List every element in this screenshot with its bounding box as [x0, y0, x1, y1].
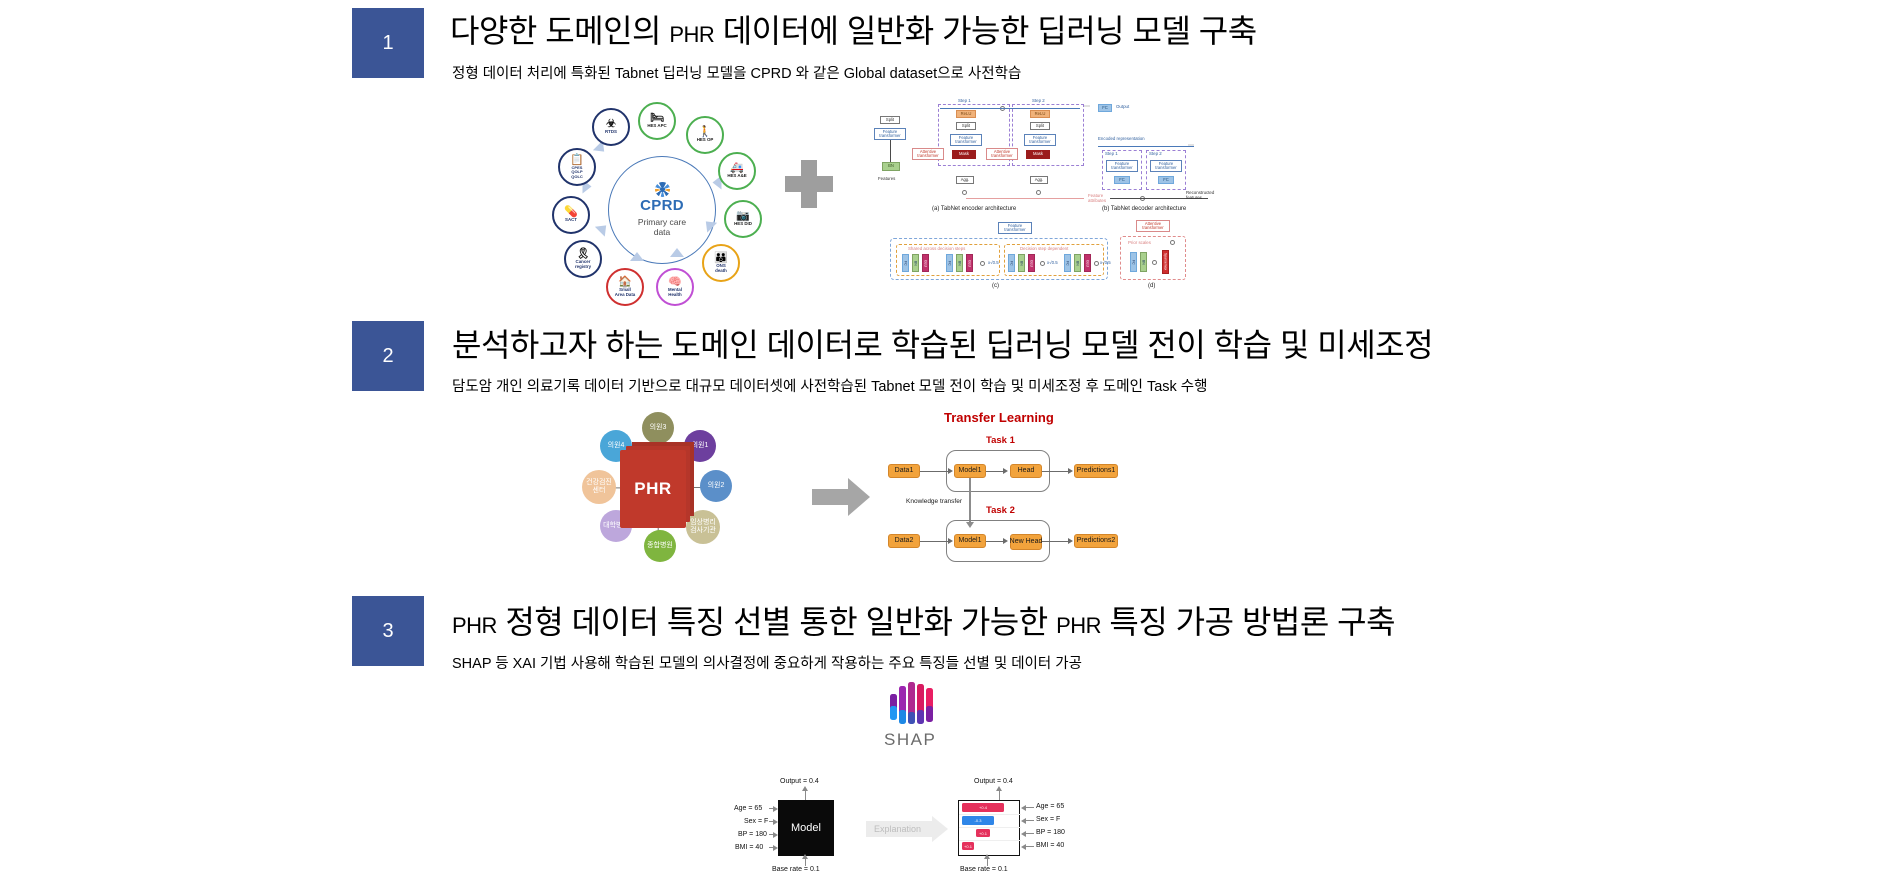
- tabnet-sparsemax-vblock: Sparsemax: [1162, 250, 1169, 274]
- tabnet-feature-transformer-block: Featuretransformer: [874, 128, 906, 140]
- tl-arrow: [1068, 468, 1073, 474]
- section-2-number-badge: 2: [352, 321, 424, 391]
- knowledge-transfer-line: [969, 478, 971, 524]
- tl-data2-box: Data2: [888, 534, 920, 548]
- tabnet-decoder-step1-label: Step 1: [1105, 151, 1118, 156]
- tabnet-fc-vblock: FC: [1064, 254, 1071, 272]
- ex-contrib-bar-bmi: +0.1: [962, 842, 974, 850]
- tabnet-feature-attributes-label: Featureattributes: [1088, 193, 1106, 203]
- tl-arrow: [1003, 538, 1008, 544]
- tabnet-ellipsis: ⋯: [1084, 103, 1091, 110]
- tabnet-at-mult-node: [1152, 260, 1157, 265]
- shap-logo-icon: [888, 682, 946, 724]
- ex-input-arrow: [773, 806, 778, 812]
- phr-node-uiwon1: 의원1: [684, 430, 716, 462]
- explanation-label: Explanation: [874, 824, 921, 834]
- cprd-node-small-area-data: 🏠 SmallArea Data: [606, 268, 644, 306]
- tabnet-bn-vblock: BN: [1018, 254, 1025, 272]
- tabnet-decoder-feature-transformer: Featuretransformer: [1106, 160, 1138, 172]
- ex-input-bmi: BMI = 40: [735, 844, 763, 851]
- tabnet-shared-label: Shared across decision steps: [908, 246, 965, 251]
- section-3-headline-part-2: 정형 데이터 특징 선별 통한 일반화 가능한: [497, 604, 1056, 640]
- tabnet-at-bn-vblock: BN: [1140, 252, 1147, 272]
- section-3-headline-phr-1: PHR: [452, 613, 497, 638]
- tabnet-bn-block: BN: [882, 162, 900, 171]
- cprd-node-label: CPESQOLPQOLC: [571, 166, 583, 179]
- tabnet-prior-scales-label: Prior scales: [1128, 240, 1151, 245]
- tabnet-feature-transformer-block: Featuretransformer: [1024, 134, 1056, 146]
- transfer-learning-title: Transfer Learning: [944, 410, 1054, 425]
- tl-new-head-line2: Head: [1026, 538, 1043, 546]
- tl-connector: [986, 471, 1004, 472]
- tl-predictions1-box: Predictions1: [1074, 464, 1118, 478]
- tabnet-agg-block: Agg.: [1030, 176, 1048, 184]
- tabnet-scale-label: x√0.5: [988, 260, 999, 265]
- tabnet-glu-vblock: GLU: [966, 254, 973, 272]
- section-2-headline: 분석하고자 하는 도메인 데이터로 학습된 딥러닝 모델 전이 학습 및 미세조…: [452, 320, 1433, 366]
- plus-symbol: [785, 160, 833, 208]
- shap-logo-figure: SHAP: [878, 682, 968, 752]
- ex-contrib-bar-age: +0.4: [962, 803, 1004, 812]
- ex-input-bp: BP = 180: [738, 831, 767, 838]
- arrow-shaft: [812, 489, 850, 505]
- phr-node-clinical-lab: 임상병리검사기관: [686, 510, 720, 544]
- ex-right-arrow: [1021, 805, 1026, 811]
- tl-arrow: [948, 468, 953, 474]
- section-1-subline: 정형 데이터 처리에 특화된 Tabnet 딥러닝 모델을 CPRD 와 같은 …: [452, 62, 1021, 83]
- tabnet-glu-vblock: GLU: [1028, 254, 1035, 272]
- tl-connector: [920, 541, 950, 542]
- ex-grid-line: [959, 814, 1021, 815]
- ex-input-age: Age = 65: [734, 805, 762, 812]
- cprd-center: CPRD Primary care data: [608, 156, 716, 264]
- tabnet-output-label: Output: [1116, 104, 1129, 109]
- explanation-arrow-head: [932, 816, 948, 842]
- tabnet-ft-sum-node: [1040, 261, 1045, 266]
- cprd-node-label: MentalHealth: [668, 288, 682, 298]
- phr-center-document: PHR: [620, 450, 686, 528]
- cprd-node-hes-apc: 🛏 HES APC: [638, 102, 676, 140]
- tabnet-decoder-bus: [1098, 146, 1194, 147]
- cprd-center-subtitle: Primary care data: [638, 218, 686, 238]
- phr-node-uiwon2: 의원2: [700, 470, 732, 502]
- cprd-node-label: SACT: [565, 218, 577, 223]
- cprd-logo-icon: [655, 182, 670, 197]
- ex-right-label-age: Age = 65: [1036, 803, 1064, 810]
- cprd-figure: CPRD Primary care data 🛏 HES APC: [552, 102, 772, 318]
- tabnet-decoder-fc-block: FC: [1114, 176, 1130, 184]
- tabnet-decoder-feature-transformer: Featuretransformer: [1150, 160, 1182, 172]
- shap-explanation-figure: Output = 0.4 Model Age = 65 Sex = F BP =…: [736, 778, 1076, 878]
- arrow-head: [848, 478, 870, 516]
- cprd-node-label: RTDS: [605, 130, 617, 135]
- cprd-node-label: ONSdeath: [715, 264, 727, 274]
- tl-new-head-line1: New: [1010, 538, 1024, 546]
- tabnet-ft-detail-title: Featuretransformer: [998, 222, 1032, 234]
- shap-bar: [908, 682, 915, 716]
- tl-new-head-box: New Head: [1010, 534, 1042, 550]
- tabnet-attentive-transformer-block: Attentivetransformer: [986, 148, 1018, 160]
- tabnet-mask-block: Mask: [1026, 150, 1050, 159]
- cprd-node-sact: 💊 SACT: [552, 196, 590, 234]
- cprd-node-cpes: 📋 CPESQOLPQOLC: [558, 148, 596, 186]
- tl-arrow: [948, 538, 953, 544]
- shap-bar: [917, 710, 924, 724]
- tabnet-fc-vblock: FC: [902, 254, 909, 272]
- section-1-headline: 다양한 도메인의 PHR 데이터에 일반화 가능한 딥러닝 모델 구축: [450, 6, 1257, 52]
- tabnet-at-fc-vblock: FC: [1130, 252, 1137, 272]
- section-1-headline-phr: PHR: [669, 22, 714, 47]
- ex-right-label-bp: BP = 180: [1036, 829, 1065, 836]
- cprd-node-label: HES DID: [734, 222, 752, 227]
- tl-data1-box: Data1: [888, 464, 920, 478]
- cprd-node-ons-death: 👪 ONSdeath: [702, 244, 740, 282]
- tabnet-reconstructed-label: Reconstructedfeatures: [1186, 190, 1214, 200]
- tl-arrow: [1068, 538, 1073, 544]
- ex-output-arrow: [802, 786, 808, 791]
- tl-arrow: [1003, 468, 1008, 474]
- ex-baserate-arrow: [802, 854, 808, 859]
- phr-node-uiwon3: 의원3: [642, 412, 674, 444]
- tabnet-bn-vblock: BN: [1074, 254, 1081, 272]
- tabnet-ft-sum-node: [1094, 261, 1099, 266]
- tabnet-scale-label: x√0.5: [1047, 260, 1058, 265]
- tl-connector: [920, 471, 950, 472]
- task2-label: Task 2: [986, 505, 1015, 516]
- tabnet-figure: Step 1 Step 2 BN Features Split Featuret…: [880, 98, 1220, 296]
- phr-node-health-checkup-center: 건강검진센터: [582, 470, 616, 504]
- shap-bar: [899, 710, 906, 724]
- tabnet-encoded-representation-label: Encoded representation: [1098, 136, 1145, 141]
- cprd-brand-label: CPRD: [640, 197, 684, 214]
- tabnet-feature-transformer-block: Featuretransformer: [950, 134, 982, 146]
- ex-base-rate-right: Base rate = 0.1: [960, 866, 1008, 873]
- ex-input-arrow: [773, 832, 778, 838]
- tabnet-agg-block: Agg.: [956, 176, 974, 184]
- tabnet-scale-label: x√0.5: [1100, 260, 1111, 265]
- tl-model1-box: Model1: [954, 464, 986, 478]
- tabnet-glu-vblock: GLU: [922, 254, 929, 272]
- cprd-node-cancer-registry: 🎗 Cancerregistry: [564, 240, 602, 278]
- section-3-headline-part-4: 특징 가공 방법론 구축: [1101, 604, 1395, 640]
- ex-right-label-sex: Sex = F: [1036, 816, 1060, 823]
- tabnet-relu-block: ReLU: [956, 110, 976, 118]
- ex-base-rate-left: Base rate = 0.1: [772, 866, 820, 873]
- tabnet-at-detail-title: Attentivetransformer: [1136, 220, 1170, 232]
- process-arrow: [812, 478, 870, 516]
- section-2-subline: 담도암 개인 의료기록 데이터 기반으로 대규모 데이터셋에 사전학습된 Tab…: [452, 375, 1207, 396]
- tl-connector: [1042, 471, 1068, 472]
- tabnet-caption-c: (c): [992, 283, 999, 289]
- tl-connector: [1042, 541, 1068, 542]
- ex-output-label-left: Output = 0.4: [780, 778, 819, 785]
- tabnet-caption-d: (d): [1148, 283, 1155, 289]
- ex-output-label-right: Output = 0.4: [974, 778, 1013, 785]
- tl-connector: [986, 541, 1004, 542]
- tabnet-step2-label: Step 2: [1032, 98, 1045, 103]
- ex-right-arrow: [1021, 844, 1026, 850]
- tabnet-sum-node: [962, 190, 967, 195]
- ex-contrib-bar-sex: -0.3: [962, 816, 994, 825]
- tl-predictions2-box: Predictions2: [1074, 534, 1118, 548]
- tabnet-ft-sum-node: [980, 261, 985, 266]
- tabnet-fc-vblock: FC: [1008, 254, 1015, 272]
- tabnet-at-mult-node: [1170, 240, 1175, 245]
- tabnet-split-block: Split: [1030, 122, 1050, 130]
- tabnet-relu-block: ReLU: [1030, 110, 1050, 118]
- tabnet-fc-block: FC: [1098, 104, 1112, 112]
- tabnet-caption-b: (b) TabNet decoder architecture: [1102, 206, 1186, 212]
- task1-label: Task 1: [986, 435, 1015, 446]
- tabnet-decoder-fc-block: FC: [1158, 176, 1174, 184]
- section-1-headline-part-3: 데이터에 일반화 가능한 딥러닝 모델 구축: [714, 13, 1256, 49]
- cprd-node-hes-did: 📷 HES DID: [724, 200, 762, 238]
- cprd-arrow-chip: [630, 252, 644, 261]
- slide-canvas: 1 다양한 도메인의 PHR 데이터에 일반화 가능한 딥러닝 모델 구축 정형…: [0, 0, 1900, 881]
- ex-input-sex: Sex = F: [744, 818, 768, 825]
- cprd-node-label: HES A&E: [727, 174, 746, 179]
- section-3-subline: SHAP 등 XAI 기법 사용해 학습된 모델의 의사결정에 중요하게 작용하…: [452, 652, 1082, 673]
- ex-grid-line: [959, 827, 1021, 828]
- shap-wordmark: SHAP: [884, 730, 936, 750]
- tabnet-sum-node: [1036, 190, 1041, 195]
- tabnet-decoder-step2-label: Step 2: [1149, 151, 1162, 156]
- tabnet-caption-a: (a) TabNet encoder architecture: [932, 206, 1016, 212]
- ex-input-arrow: [773, 845, 778, 851]
- section-1-number-badge: 1: [352, 8, 424, 78]
- tabnet-decoder-ellipsis: ⋯: [1188, 142, 1195, 149]
- tabnet-split-block: Split: [956, 122, 976, 130]
- ex-input-arrow: [773, 819, 778, 825]
- shap-bar: [926, 706, 933, 722]
- section-1-headline-part-1: 다양한 도메인의: [450, 13, 669, 49]
- tabnet-step1-label: Step 1: [958, 98, 971, 103]
- shap-bar: [908, 712, 915, 724]
- transfer-learning-figure: Transfer Learning Task 1 Data1 Model1 He…: [888, 410, 1188, 570]
- tl-head-box: Head: [1010, 464, 1042, 478]
- ex-model-box: Model: [778, 800, 834, 856]
- cprd-node-hes-ae: 🚑 HES A&E: [718, 152, 756, 190]
- ex-output-arrow: [996, 786, 1002, 791]
- ex-right-label-bmi: BMI = 40: [1036, 842, 1064, 849]
- knowledge-transfer-label: Knowledge transfer: [906, 498, 962, 505]
- cprd-node-mental-health: 🧠 MentalHealth: [656, 268, 694, 306]
- tabnet-feature-attr-line: [966, 198, 1084, 199]
- cprd-node-label: SmallArea Data: [615, 288, 636, 298]
- ex-right-arrow: [1021, 831, 1026, 837]
- phr-node-general-hospital: 종합병원: [644, 530, 676, 562]
- section-3-headline-phr-2: PHR: [1056, 613, 1101, 638]
- phr-figure: PHR 의원3 의원1 의원2 임상병리검사기관 종합병원 대학병원 건강검진센…: [558, 412, 758, 562]
- tabnet-split-block: Split: [880, 116, 900, 124]
- cprd-node-label: HES OP: [697, 138, 714, 143]
- ex-grid-line: [959, 840, 1021, 841]
- ex-right-arrow: [1021, 818, 1026, 824]
- tabnet-bn-vblock: BN: [912, 254, 919, 272]
- tabnet-dependent-label: Decision step dependent: [1020, 246, 1068, 251]
- cprd-node-rtds: ☣ RTDS: [592, 108, 630, 146]
- cprd-node-label: HES APC: [647, 124, 666, 129]
- tl-model1-box: Model1: [954, 534, 986, 548]
- cprd-node-hes-op: 🚶 HES OP: [686, 116, 724, 154]
- tabnet-features-label: Features: [878, 176, 895, 181]
- tabnet-output-line: [940, 108, 1080, 109]
- cprd-subtitle-line2: data: [638, 228, 686, 238]
- cprd-arrow-chip: [670, 248, 684, 257]
- cprd-node-label: Cancerregistry: [575, 260, 591, 270]
- tabnet-bn-vblock: BN: [956, 254, 963, 272]
- shap-bar: [890, 706, 897, 720]
- ex-baserate-arrow: [984, 854, 990, 859]
- section-3-headline: PHR 정형 데이터 특징 선별 통한 일반화 가능한 PHR 특징 가공 방법…: [452, 597, 1395, 643]
- ex-contrib-bar-bp: +0.1: [976, 829, 990, 837]
- tabnet-mask-block: Mask: [952, 150, 976, 159]
- tabnet-fc-vblock: FC: [946, 254, 953, 272]
- tabnet-glu-vblock: GLU: [1084, 254, 1091, 272]
- section-3-number-badge: 3: [352, 596, 424, 666]
- tabnet-attentive-transformer-block: Attentivetransformer: [912, 148, 944, 160]
